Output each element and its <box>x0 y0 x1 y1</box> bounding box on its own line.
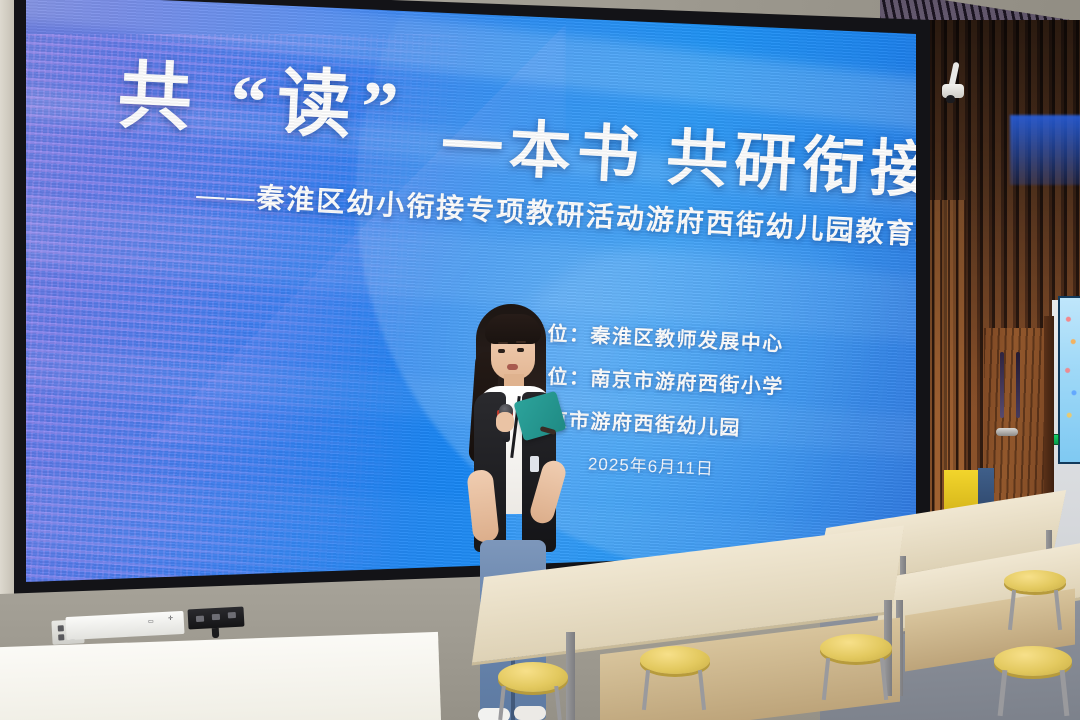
av-port[interactable] <box>196 616 204 622</box>
av-input-panel[interactable] <box>188 607 245 630</box>
screen-reflection-on-wood <box>1010 115 1080 185</box>
slide-date: 2025年6月11日 <box>588 449 715 479</box>
presenter-shoe <box>478 708 510 720</box>
plate-arrows-icon: ✛ <box>168 615 173 622</box>
door-handle-bar-secondary[interactable] <box>1016 352 1020 418</box>
plate-label-icon: ▭ <box>148 618 154 625</box>
stool-seat <box>1004 570 1066 592</box>
presenter-mouth <box>507 364 518 370</box>
secondary-display <box>1058 296 1080 464</box>
camera-lens-icon <box>946 95 955 103</box>
presenter <box>452 300 582 720</box>
presenter-eyebrow <box>498 342 508 344</box>
presenter-badge <box>530 456 539 472</box>
presenter-fringe <box>485 314 541 344</box>
av-port[interactable] <box>228 612 236 618</box>
presenter-eye <box>517 348 524 352</box>
outlet-pin <box>58 625 64 631</box>
foreground-table <box>0 632 442 720</box>
photo-scene: 共 “读” 一本书 共研衔接 “方” ——秦淮区幼小衔接专项教研活动游府西街幼儿… <box>0 0 1080 720</box>
secondary-display-content <box>1062 300 1078 460</box>
presenter-eye <box>498 349 505 353</box>
door-handle-bar[interactable] <box>1000 352 1004 418</box>
cable-connector <box>212 628 220 638</box>
av-port[interactable] <box>212 614 220 620</box>
presenter-hand-left <box>496 412 514 432</box>
outlet-pin <box>58 634 64 640</box>
slide-headline-line-1: 共 “读” <box>116 35 411 155</box>
presenter-eyebrow <box>516 341 526 343</box>
presenter-shoe <box>514 706 546 720</box>
door-lever-knob-icon[interactable] <box>996 428 1018 436</box>
